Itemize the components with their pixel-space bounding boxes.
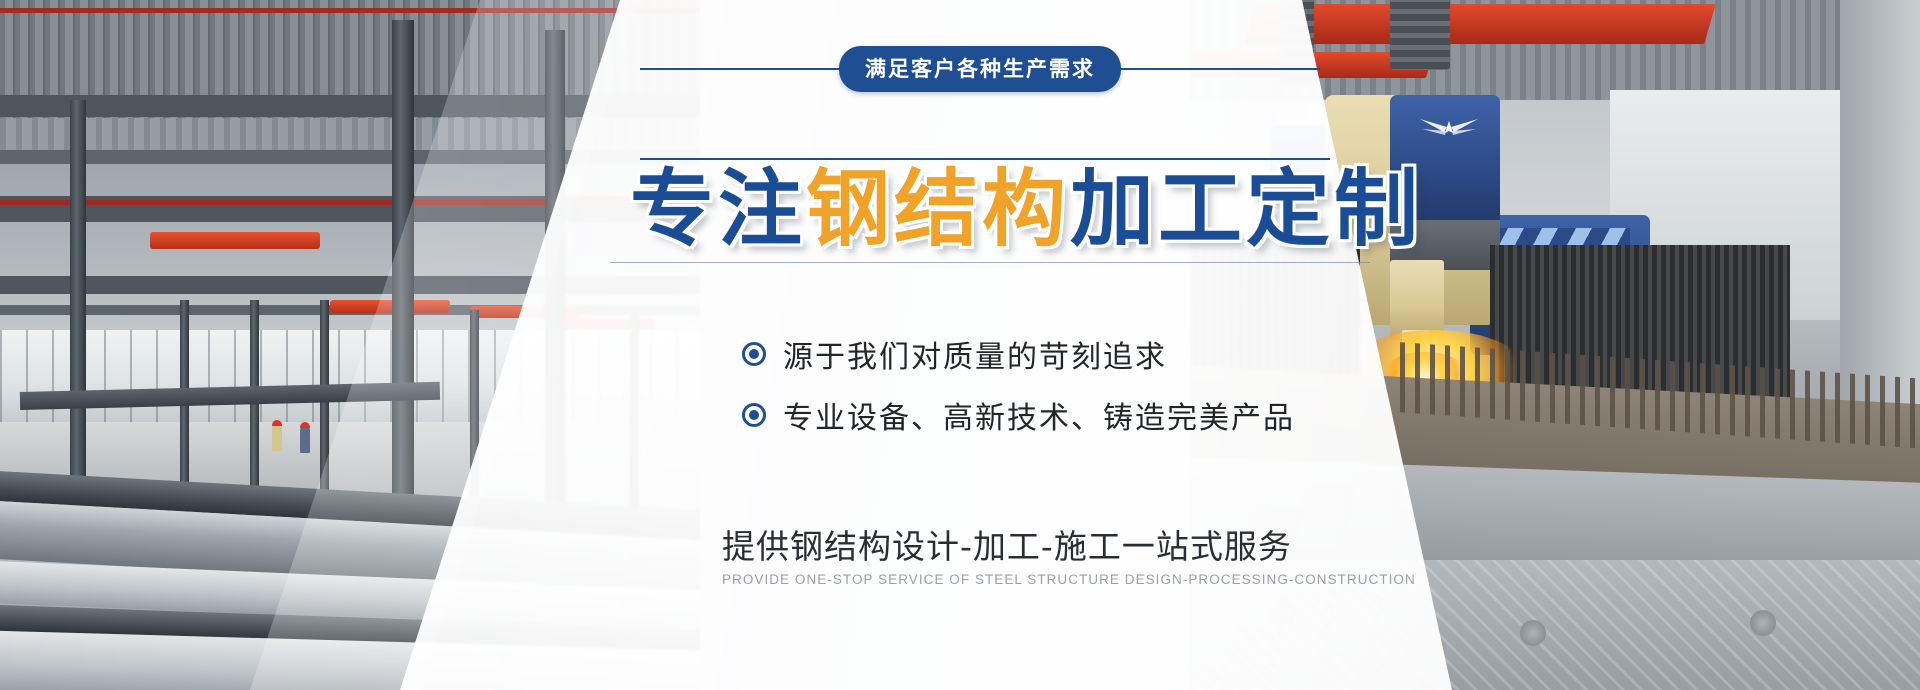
page-title: 专注钢结构加工定制 [630,160,1390,259]
headline-part-1: 专注 [630,160,806,258]
badge-line-right [1121,68,1320,70]
circle-dot-icon [742,403,766,427]
list-item-label: 专业设备、高新技术、铸造完美产品 [783,393,1295,437]
badge-row: 满足客户各种生产需求 [640,48,1320,90]
tagline: 提供钢结构设计-加工-施工一站式服务 [722,520,1292,568]
feature-list: 源于我们对质量的苛刻追求 专业设备、高新技术、铸造完美产品 [742,332,1295,454]
list-item: 源于我们对质量的苛刻追求 [742,332,1295,376]
promo-banner: 满足客户各种生产需求 专注钢结构加工定制 源于我们对质量的苛刻追求 专业设备、高… [0,0,1920,690]
list-item: 专业设备、高新技术、铸造完美产品 [742,393,1295,437]
tagline-english: PROVIDE ONE-STOP SERVICE OF STEEL STRUCT… [722,572,1416,587]
list-item-label: 源于我们对质量的苛刻追求 [783,332,1167,376]
headline-rule-bottom [610,262,1370,263]
banner-content: 满足客户各种生产需求 专注钢结构加工定制 源于我们对质量的苛刻追求 专业设备、高… [0,0,1920,690]
badge-line-left [640,68,839,70]
circle-dot-icon [742,342,766,366]
headline-part-2: 钢结构 [806,160,1070,258]
slogan-badge: 满足客户各种生产需求 [839,46,1121,92]
headline-part-3: 加工定制 [1070,160,1422,258]
